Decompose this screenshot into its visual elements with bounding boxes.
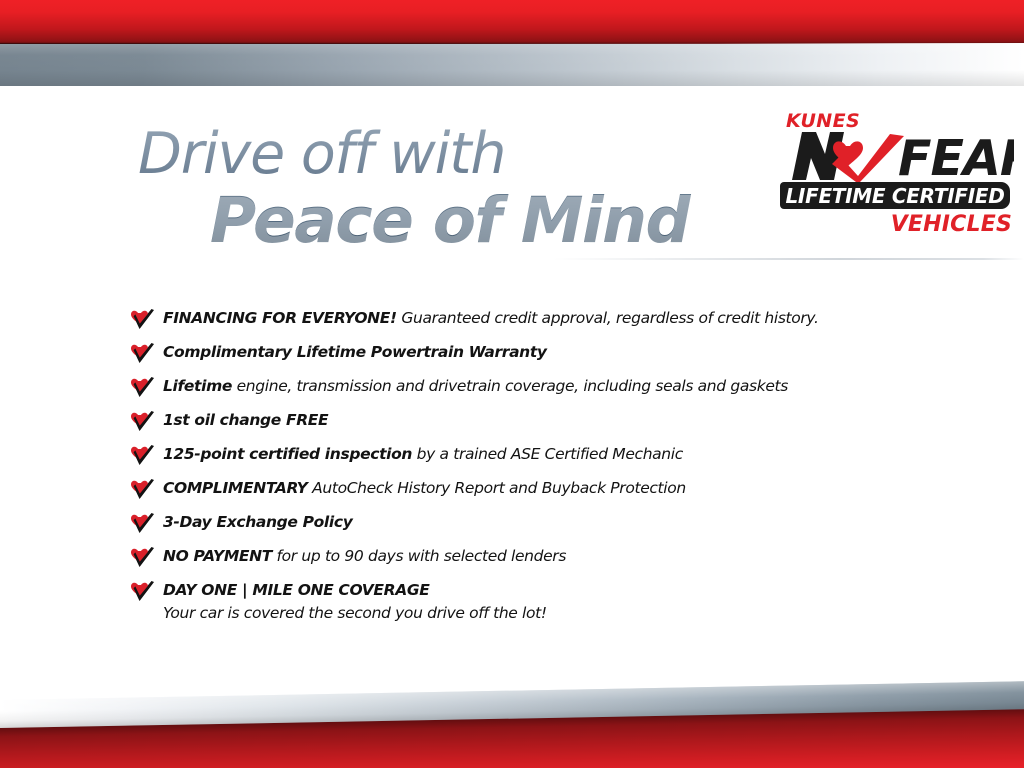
header-divider <box>0 258 1024 260</box>
logo-tagline-bar: LIFETIME CERTIFIED <box>780 182 1010 209</box>
heart-check-icon <box>130 581 156 603</box>
list-item-strong: Lifetime <box>163 377 232 395</box>
list-item-text: Lifetime engine, transmission and drivet… <box>163 376 788 397</box>
list-item: DAY ONE | MILE ONE COVERAGE Your car is … <box>130 580 930 624</box>
list-item-strong: DAY ONE | MILE ONE COVERAGE <box>163 581 429 599</box>
promo-page: Drive off with Peace of Mind KUNES FEAR <box>0 0 1024 768</box>
heart-check-icon <box>130 445 156 467</box>
top-banner <box>0 0 1024 92</box>
list-item-strong: Complimentary Lifetime Powertrain Warran… <box>163 343 547 361</box>
list-item-text: 125-point certified inspection by a trai… <box>163 444 683 465</box>
heart-check-icon <box>130 343 156 365</box>
list-item-light: by a trained ASE Certified Mechanic <box>412 445 683 463</box>
list-item-text: COMPLIMENTARY AutoCheck History Report a… <box>163 478 686 499</box>
heart-check-icon <box>130 377 156 399</box>
list-item-strong: 3-Day Exchange Policy <box>163 513 352 531</box>
heart-check-icon <box>130 309 156 331</box>
svg-text:FEAR: FEAR <box>898 130 1014 182</box>
top-gray-stripe-shading <box>0 44 1024 86</box>
list-item: NO PAYMENT for up to 90 days with select… <box>130 546 930 569</box>
list-item-strong: 125-point certified inspection <box>163 445 412 463</box>
heart-check-icon <box>130 547 156 569</box>
list-item: COMPLIMENTARY AutoCheck History Report a… <box>130 478 930 501</box>
list-item: 1st oil change FREE <box>130 410 930 433</box>
logo-suffix-vehicles: VEHICLES <box>891 212 1012 237</box>
logo-no-fear-wordmark: FEAR <box>780 130 1014 182</box>
logo-letter-n <box>792 132 844 180</box>
list-item: FINANCING FOR EVERYONE! Guaranteed credi… <box>130 308 930 331</box>
list-item-text: FINANCING FOR EVERYONE! Guaranteed credi… <box>163 308 819 329</box>
list-item-strong: 1st oil change FREE <box>163 411 328 429</box>
list-item: 3-Day Exchange Policy <box>130 512 930 535</box>
headline-block: Drive off with Peace of Mind <box>138 124 758 256</box>
list-item: 125-point certified inspection by a trai… <box>130 444 930 467</box>
list-item-text: 3-Day Exchange Policy <box>163 512 352 533</box>
list-item: Lifetime engine, transmission and drivet… <box>130 376 930 399</box>
list-item-light: engine, transmission and drivetrain cove… <box>232 377 788 395</box>
logo-tagline-text: LIFETIME CERTIFIED <box>785 184 1004 208</box>
list-item-text: Complimentary Lifetime Powertrain Warran… <box>163 342 547 363</box>
heart-check-icon <box>130 479 156 501</box>
list-item-text: DAY ONE | MILE ONE COVERAGE Your car is … <box>163 580 547 624</box>
list-item: Complimentary Lifetime Powertrain Warran… <box>130 342 930 365</box>
headline-line-2: Peace of Mind <box>210 186 758 256</box>
list-item-strong: COMPLIMENTARY <box>163 479 308 497</box>
bottom-banner <box>0 692 1024 768</box>
top-red-stripe <box>0 0 1024 43</box>
list-item-light: for up to 90 days with selected lenders <box>272 547 566 565</box>
list-item-light: Guaranteed credit approval, regardless o… <box>397 309 819 327</box>
feature-list: FINANCING FOR EVERYONE! Guaranteed credi… <box>130 308 930 635</box>
list-item-text: NO PAYMENT for up to 90 days with select… <box>163 546 566 567</box>
list-item-text: 1st oil change FREE <box>163 410 328 431</box>
logo-heart-check-icon <box>832 134 904 182</box>
heart-check-icon <box>130 411 156 433</box>
headline-line-1: Drive off with <box>138 124 758 184</box>
logo-brand-kunes: KUNES <box>786 110 860 132</box>
list-item-light: AutoCheck History Report and Buyback Pro… <box>308 479 686 497</box>
kunes-no-fear-logo: KUNES FEAR LIFETIME CERTIFIE <box>772 108 1014 248</box>
list-item-strong: NO PAYMENT <box>163 547 272 565</box>
heart-check-icon <box>130 513 156 535</box>
list-item-subtext: Your car is covered the second you drive… <box>163 602 547 624</box>
logo-letters-fear: FEAR <box>898 130 1014 182</box>
list-item-strong: FINANCING FOR EVERYONE! <box>163 309 397 327</box>
